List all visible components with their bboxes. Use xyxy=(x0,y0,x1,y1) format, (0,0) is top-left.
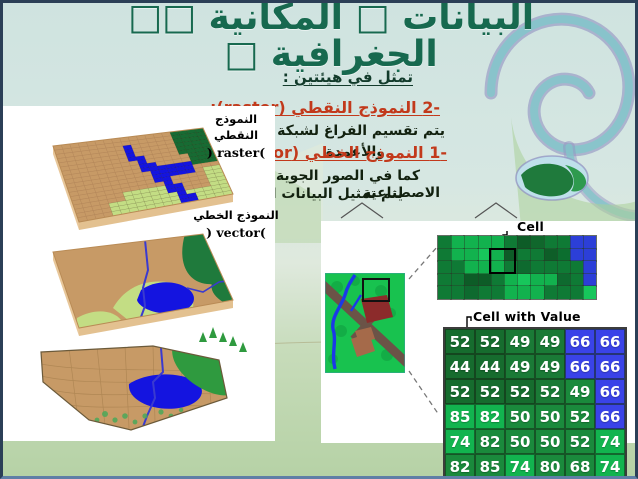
cell-grid-cell xyxy=(517,274,530,287)
cell-grid-cell xyxy=(570,236,583,249)
cell-value-grid: 6666494952526666494944446649525252526652… xyxy=(443,327,627,479)
value-cell: 66 xyxy=(595,354,625,379)
highlighted-cell xyxy=(489,248,516,274)
cell-grid-cell xyxy=(504,236,517,249)
value-cell: 74 xyxy=(505,454,535,479)
cell-grid-cell xyxy=(544,236,557,249)
cell-grid-cell xyxy=(583,261,596,274)
label-vector-arabic: النموذج الخطي xyxy=(193,207,279,223)
value-cell: 49 xyxy=(505,354,535,379)
cell-grid-cell xyxy=(504,286,517,299)
value-cell: 52 xyxy=(475,329,505,354)
cell-grid-cell xyxy=(451,286,464,299)
cell-grid-cell xyxy=(570,274,583,287)
cell-grid-cell xyxy=(583,236,596,249)
cell-grid-cell xyxy=(491,286,504,299)
value-cell: 74 xyxy=(445,429,475,454)
cell-grid-cell xyxy=(478,274,491,287)
slide-title-line-1: البيانات □ المكانية □□ xyxy=(51,0,611,36)
cell-grid-cell xyxy=(557,236,570,249)
cell-grid-cell xyxy=(530,249,543,262)
intro-text: تمثل في هيئتين : xyxy=(283,68,413,86)
value-cell: 82 xyxy=(475,429,505,454)
cell-grid-cell xyxy=(438,249,451,262)
value-cell: 44 xyxy=(475,354,505,379)
value-cell: 66 xyxy=(565,354,595,379)
value-cell: 49 xyxy=(565,379,595,404)
value-cell: 50 xyxy=(535,404,565,429)
cell-grid-cell xyxy=(544,286,557,299)
slide-title: البيانات □ المكانية □□ الجغرافية □ xyxy=(51,0,611,73)
value-cell: 74 xyxy=(595,454,625,479)
cell-grid-cell xyxy=(517,236,530,249)
value-cell: 66 xyxy=(565,329,595,354)
value-cell: 49 xyxy=(505,329,535,354)
value-cell: 80 xyxy=(535,454,565,479)
label-vector-model: النموذج الخطي ) vector( xyxy=(193,207,279,243)
cell-grid-cell xyxy=(517,249,530,262)
label-raster-arabic: النموذج النقطي xyxy=(193,111,279,143)
caret-connector-right xyxy=(473,201,519,219)
value-cell: 49 xyxy=(535,354,565,379)
cell-grid-cell xyxy=(438,236,451,249)
value-cell: 52 xyxy=(475,379,505,404)
value-cell: 85 xyxy=(475,454,505,479)
cell-grid-cell xyxy=(464,261,477,274)
cell-grid-cell xyxy=(464,286,477,299)
cell-grid-cell xyxy=(517,261,530,274)
value-cell: 50 xyxy=(505,404,535,429)
cell-with-value-caption: Cell with Value xyxy=(473,309,581,324)
cell-grid-cell xyxy=(464,236,477,249)
cell-grid-cell xyxy=(438,274,451,287)
caret-connector-left xyxy=(339,201,385,219)
cell-grid-cell xyxy=(504,274,517,287)
value-cell: 66 xyxy=(595,404,625,429)
cell-grid-cell xyxy=(491,274,504,287)
value-cell: 68 xyxy=(565,454,595,479)
real-world-illustration xyxy=(13,324,253,442)
value-cell: 74 xyxy=(595,429,625,454)
value-cell: 44 xyxy=(445,354,475,379)
cell-grid xyxy=(437,235,597,300)
value-cell: 52 xyxy=(565,404,595,429)
cell-grid-cell xyxy=(451,236,464,249)
cell-grid-cell xyxy=(557,274,570,287)
cell-grid-cell xyxy=(557,261,570,274)
label-raster-english: ) raster( xyxy=(193,143,279,163)
value-cell: 52 xyxy=(505,379,535,404)
cell-grid-cell xyxy=(557,249,570,262)
label-raster-model: النموذج النقطي ) raster( xyxy=(193,111,279,163)
cell-grid-cell xyxy=(530,274,543,287)
cell-grid-cell xyxy=(438,261,451,274)
cell-grid-cell xyxy=(517,286,530,299)
cell-grid-cell xyxy=(570,286,583,299)
slide-canvas: البيانات □ المكانية □□ الجغرافية □ تمثل … xyxy=(0,0,638,479)
cell-grid-cell xyxy=(570,261,583,274)
value-cell: 50 xyxy=(505,429,535,454)
value-cell: 82 xyxy=(445,454,475,479)
cell-grid-cell xyxy=(438,286,451,299)
cell-grid-cell xyxy=(557,286,570,299)
cell-grid-cell xyxy=(478,286,491,299)
value-cell: 66 xyxy=(595,329,625,354)
cell-grid-cell xyxy=(583,249,596,262)
value-cell: 52 xyxy=(445,379,475,404)
cell-grid-cell xyxy=(451,249,464,262)
globe-icon xyxy=(515,155,589,201)
label-vector-english: ) vector( xyxy=(193,223,279,243)
cell-grid-cell xyxy=(464,249,477,262)
value-cell: 52 xyxy=(565,429,595,454)
raster-diagram-panel: Cell Cell with Value 6666494952526666494… xyxy=(321,221,637,443)
cell-grid-cell xyxy=(530,236,543,249)
value-cell: 66 xyxy=(595,379,625,404)
value-cell: 52 xyxy=(445,329,475,354)
value-cell: 50 xyxy=(535,429,565,454)
cell-caption: Cell xyxy=(517,219,544,234)
aerial-photo-thumbnail xyxy=(325,273,405,373)
cell-grid-cell xyxy=(544,274,557,287)
cell-grid-cell xyxy=(530,261,543,274)
value-cell: 82 xyxy=(475,404,505,429)
cell-grid-cell xyxy=(464,274,477,287)
cell-grid-cell xyxy=(544,249,557,262)
cell-grid-cell xyxy=(451,274,464,287)
cell-grid-cell xyxy=(530,286,543,299)
cell-grid-cell xyxy=(491,236,504,249)
value-cell: 49 xyxy=(535,329,565,354)
cell-grid-cell xyxy=(478,236,491,249)
value-cell: 52 xyxy=(535,379,565,404)
cell-grid-cell xyxy=(451,261,464,274)
cell-grid-cell xyxy=(583,274,596,287)
cell-grid-cell xyxy=(583,286,596,299)
value-cell: 85 xyxy=(445,404,475,429)
cell-grid-cell xyxy=(544,261,557,274)
cell-grid-cell xyxy=(570,249,583,262)
